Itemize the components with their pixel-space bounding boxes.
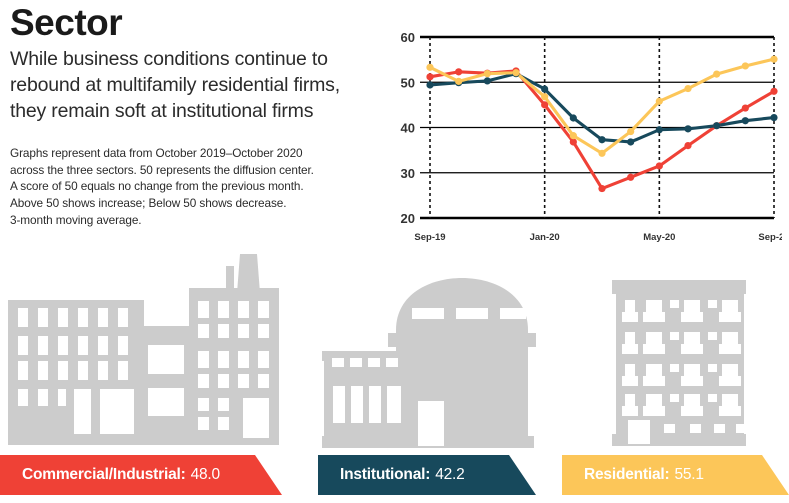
building-illustrations	[0, 248, 789, 458]
data-point	[742, 62, 749, 69]
data-point	[512, 69, 519, 76]
banner-residential[interactable]: Residential: 55.1	[562, 455, 789, 495]
data-point	[742, 117, 749, 124]
data-point	[541, 101, 548, 108]
series-line-commercial-industrial	[430, 71, 774, 189]
series-line-institutional	[430, 74, 774, 142]
y-tick-40: 40	[401, 121, 415, 136]
data-point	[656, 126, 663, 133]
banner-institutional-value: 42.2	[435, 466, 464, 484]
y-tick-50: 50	[401, 75, 415, 90]
banner-residential-label: Residential:	[584, 466, 669, 484]
sector-value-banners: Commercial/Industrial: 48.0 Institutiona…	[0, 455, 789, 503]
x-tick-Jan-20: Jan-20	[530, 232, 560, 243]
data-point	[426, 64, 433, 71]
banner-commercial-industrial[interactable]: Commercial/Industrial: 48.0	[0, 455, 282, 495]
data-point	[570, 138, 577, 145]
text-column: Sector While business conditions continu…	[10, 4, 370, 229]
data-point	[684, 125, 691, 132]
data-point	[627, 128, 634, 135]
x-tick-Sep-19: Sep-19	[414, 232, 445, 243]
commercial-building-icon	[8, 254, 279, 445]
data-point	[770, 88, 777, 95]
data-series-lines	[430, 59, 774, 188]
note-line-5: 3-month moving average.	[10, 212, 370, 229]
y-tick-20: 20	[401, 211, 415, 226]
banner-institutional[interactable]: Institutional: 42.2	[318, 455, 536, 495]
data-point	[484, 70, 491, 77]
x-tick-Sep-20: Sep-20	[758, 232, 782, 243]
y-axis-tick-labels: 2030405060	[401, 30, 415, 226]
y-gridlines	[420, 37, 774, 218]
chart-svg: 2030405060 Sep-19Jan-20May-20Sep-20	[382, 8, 782, 253]
buildings-svg	[0, 248, 789, 458]
data-point	[484, 77, 491, 84]
banner-residential-value: 55.1	[674, 466, 703, 484]
data-point	[627, 174, 634, 181]
data-point	[770, 56, 777, 63]
subtitle: While business conditions continue to re…	[10, 47, 370, 125]
data-point	[426, 81, 433, 88]
data-point	[742, 104, 749, 111]
note-line-1: Graphs represent data from October 2019–…	[10, 145, 370, 162]
data-point	[713, 71, 720, 78]
y-tick-60: 60	[401, 30, 415, 45]
page-title: Sector	[10, 4, 370, 41]
institutional-building-icon	[322, 278, 536, 448]
banner-institutional-label: Institutional:	[340, 466, 430, 484]
x-tick-May-20: May-20	[643, 232, 675, 243]
data-point	[455, 78, 462, 85]
data-point	[541, 85, 548, 92]
note-line-4: Above 50 shows increase; Below 50 shows …	[10, 195, 370, 212]
note-line-3: A score of 50 equals no change from the …	[10, 178, 370, 195]
data-point	[598, 136, 605, 143]
data-point	[541, 93, 548, 100]
data-point	[770, 114, 777, 121]
infographic-root: Sector While business conditions continu…	[0, 0, 789, 503]
residential-building-icon	[612, 280, 746, 446]
sector-line-chart: 2030405060 Sep-19Jan-20May-20Sep-20	[382, 8, 782, 253]
y-tick-30: 30	[401, 166, 415, 181]
data-point	[656, 162, 663, 169]
data-point	[713, 122, 720, 129]
data-point	[570, 132, 577, 139]
data-point	[684, 142, 691, 149]
note-line-2: across the three sectors. 50 represents …	[10, 162, 370, 179]
data-point	[570, 114, 577, 121]
data-point	[684, 85, 691, 92]
data-point	[598, 185, 605, 192]
data-point	[455, 68, 462, 75]
methodology-note: Graphs represent data from October 2019–…	[10, 145, 370, 229]
data-point	[627, 138, 634, 145]
data-point	[426, 73, 433, 80]
x-axis-tick-labels: Sep-19Jan-20May-20Sep-20	[414, 232, 782, 243]
data-point	[656, 98, 663, 105]
banner-commercial-label: Commercial/Industrial:	[22, 466, 186, 484]
data-point	[598, 150, 605, 157]
banner-commercial-value: 48.0	[191, 466, 220, 484]
